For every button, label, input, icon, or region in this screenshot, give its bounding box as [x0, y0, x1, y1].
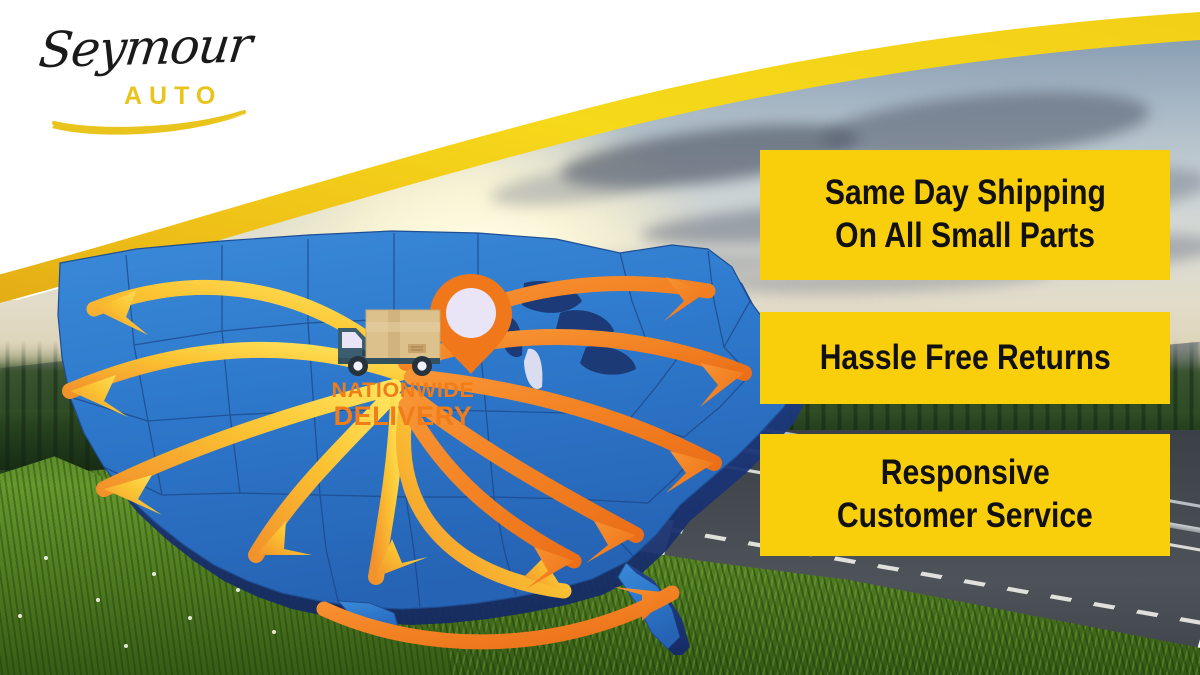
promo-banner: Seymour AUTO: [0, 0, 1200, 675]
feature-panel-same-day-shipping[interactable]: Same Day Shipping On All Small Parts: [760, 150, 1170, 280]
nationwide-delivery-label: NATIONWIDE DELIVERY: [318, 380, 488, 430]
brand-logo[interactable]: Seymour AUTO: [28, 22, 258, 132]
feature-panel-responsive-customer-service[interactable]: Responsive Customer Service: [760, 434, 1170, 556]
panel-line: Hassle Free Returns: [819, 337, 1110, 380]
panel-line: On All Small Parts: [835, 215, 1095, 258]
logo-auto-text: AUTO: [124, 82, 222, 111]
panel-line: Same Day Shipping: [824, 172, 1105, 215]
nationwide-delivery-badge: NATIONWIDE DELIVERY: [318, 272, 518, 452]
delivery-truck-icon: [336, 300, 466, 378]
panel-line: Customer Service: [837, 495, 1093, 538]
badge-line-delivery: DELIVERY: [318, 403, 488, 431]
feature-panel-hassle-free-returns[interactable]: Hassle Free Returns: [760, 312, 1170, 404]
logo-script-text: Seymour: [36, 17, 254, 79]
panel-line: Responsive: [881, 452, 1050, 495]
badge-line-nationwide: NATIONWIDE: [318, 380, 488, 402]
